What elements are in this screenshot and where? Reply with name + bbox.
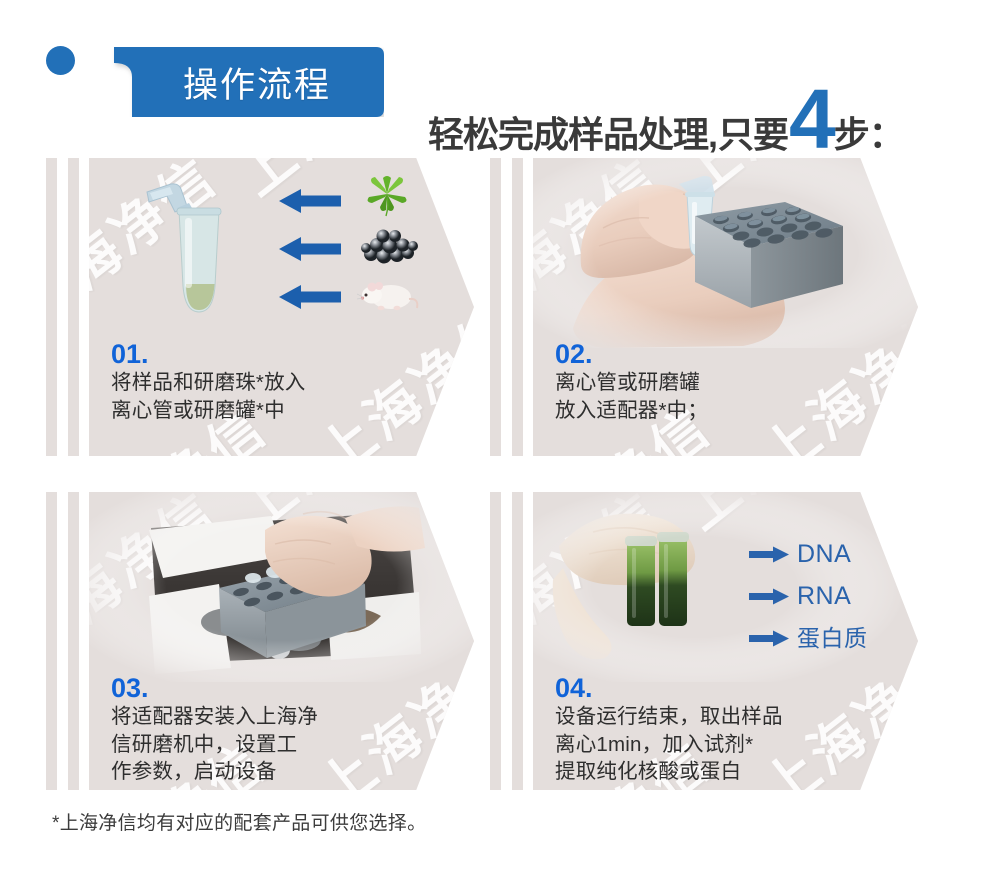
- outputs-group: DNA RNA 蛋白质: [749, 536, 914, 662]
- step-02-illustration: [533, 158, 918, 348]
- step-04-illustration: DNA RNA 蛋白质: [533, 492, 918, 682]
- step-card-body: 上海净信 上海净信 上海净信 上海净信 上海净信: [89, 492, 474, 790]
- blue-dot-icon: [46, 46, 75, 75]
- headline-part2: 只要: [718, 117, 788, 153]
- page-header: 操作流程 轻松完成样品处理 , 只要 4 步：: [0, 0, 1000, 140]
- page-headline: 轻松完成样品处理 , 只要 4 步：: [428, 44, 904, 120]
- left-arrow-icon: [279, 188, 341, 214]
- centrifuge-tube-icon: [145, 180, 235, 322]
- card-accent-bar-outer: [46, 158, 57, 456]
- step-03-illustration: [89, 492, 474, 682]
- white-mouse-icon: [357, 272, 421, 316]
- left-arrow-icon: [279, 236, 341, 262]
- footer-note: *上海净信均有对应的配套产品可供您选择。: [52, 808, 426, 835]
- step-number: 01.: [111, 340, 441, 368]
- output-row: DNA: [749, 536, 914, 572]
- right-arrow-icon: [749, 630, 789, 647]
- step-number: 04.: [555, 674, 885, 702]
- green-leaf-icon: [357, 176, 421, 220]
- hand-mounting-adapter-photo: [89, 492, 474, 682]
- card-accent-bar-inner: [68, 158, 79, 456]
- step-description: 设备运行结束，取出样品 离心1min，加入试剂* 提取纯化核酸或蛋白: [555, 703, 885, 785]
- step-number: 02.: [555, 340, 885, 368]
- hand-inserting-tube-photo: [533, 158, 918, 348]
- card-accent-bar-outer: [490, 492, 501, 790]
- headline-part3: 步：: [834, 117, 904, 153]
- card-accent-bar-outer: [490, 158, 501, 456]
- step-card-body: 上海净信 上海净信 上海净信 上海净信 上海净信: [533, 158, 918, 456]
- section-banner: 操作流程: [94, 47, 384, 117]
- step-caption: 04. 设备运行结束，取出样品 离心1min，加入试剂* 提取纯化核酸或蛋白: [555, 674, 885, 786]
- step-caption: 03. 将适配器安装入上海净 信研磨机中，设置工 作参数，启动设备: [111, 674, 441, 786]
- headline-comma: ,: [708, 114, 718, 156]
- steps-grid: 上海净信 上海净信 上海净信 上海净信 上海净信: [0, 158, 1000, 798]
- step-number: 03.: [111, 674, 441, 702]
- card-accent-bar-outer: [46, 492, 57, 790]
- headline-part1: 轻松完成样品处理: [428, 117, 708, 153]
- step-card-01: 上海净信 上海净信 上海净信 上海净信 上海净信: [46, 158, 474, 456]
- output-label: DNA: [797, 542, 851, 567]
- step-caption: 02. 离心管或研磨罐 放入适配器*中；: [555, 340, 885, 424]
- card-accent-bar-inner: [512, 158, 523, 456]
- step-card-body: 上海净信 上海净信 上海净信 上海净信 上海净信: [89, 158, 474, 456]
- card-accent-bar-inner: [512, 492, 523, 790]
- card-accent-bar-inner: [68, 492, 79, 790]
- step-01-illustration: [89, 158, 474, 348]
- step-card-04: 上海净信 上海净信 上海净信 上海净信 上海净信: [490, 492, 918, 790]
- sample-types-group: [357, 180, 435, 320]
- banner-title: 操作流程: [94, 47, 384, 117]
- output-row: 蛋白质: [749, 620, 914, 656]
- headline-step-count: 4: [789, 77, 833, 161]
- step-description: 将适配器安装入上海净 信研磨机中，设置工 作参数，启动设备: [111, 703, 441, 785]
- step-card-03: 上海净信 上海净信 上海净信 上海净信 上海净信: [46, 492, 474, 790]
- step-description: 离心管或研磨罐 放入适配器*中；: [555, 369, 885, 424]
- output-row: RNA: [749, 578, 914, 614]
- right-arrow-icon: [749, 546, 789, 563]
- output-label: 蛋白质: [797, 627, 868, 650]
- output-label: RNA: [797, 584, 851, 609]
- step-caption: 01. 将样品和研磨珠*放入 离心管或研磨罐*中: [111, 340, 441, 424]
- right-arrow-icon: [749, 588, 789, 605]
- step-card-body: 上海净信 上海净信 上海净信 上海净信 上海净信: [533, 492, 918, 790]
- input-arrows-group: [279, 188, 351, 308]
- step-card-02: 上海净信 上海净信 上海净信 上海净信 上海净信: [490, 158, 918, 456]
- grinding-beads-icon: [357, 224, 421, 268]
- step-description: 将样品和研磨珠*放入 离心管或研磨罐*中: [111, 369, 441, 424]
- left-arrow-icon: [279, 284, 341, 310]
